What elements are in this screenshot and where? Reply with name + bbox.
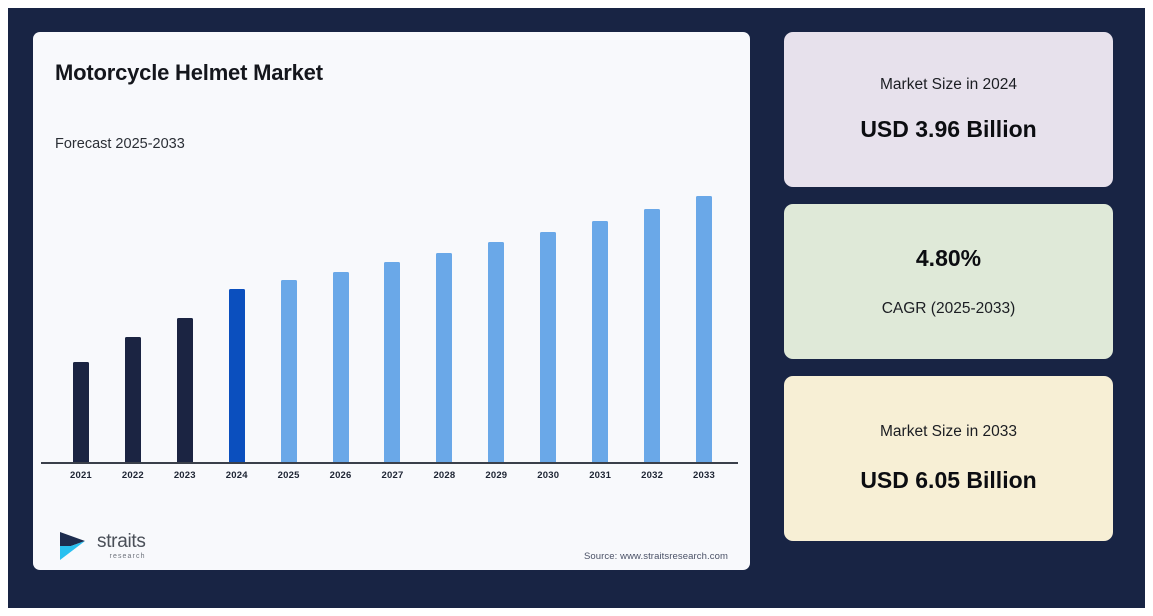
bar-2031 — [592, 221, 608, 464]
logo-tagline: research — [97, 553, 146, 560]
x-tick-2032: 2032 — [626, 470, 678, 481]
stat-card-label: Market Size in 2033 — [880, 423, 1017, 441]
bar-slot — [55, 172, 107, 464]
stat-card-value: USD 6.05 Billion — [860, 467, 1036, 494]
x-tick-2023: 2023 — [159, 470, 211, 481]
straits-research-logo: straits research — [57, 530, 146, 562]
bar-slot — [678, 172, 730, 464]
x-tick-2026: 2026 — [315, 470, 367, 481]
x-tick-2029: 2029 — [470, 470, 522, 481]
bar-2021 — [73, 362, 89, 464]
stat-card-label: CAGR (2025-2033) — [882, 300, 1016, 318]
logo-wordmark: straits research — [97, 532, 146, 560]
chart-panel: Motorcycle Helmet Market Forecast 2025-2… — [33, 32, 750, 570]
bar-2023 — [177, 318, 193, 464]
bar-slot — [315, 172, 367, 464]
x-axis-tick-labels: 2021202220232024202520262027202820292030… — [55, 470, 730, 481]
bar-slot — [211, 172, 263, 464]
x-tick-2021: 2021 — [55, 470, 107, 481]
stat-card-label: Market Size in 2024 — [880, 76, 1017, 94]
bar-2027 — [384, 262, 400, 464]
x-tick-2031: 2031 — [574, 470, 626, 481]
page-title: Motorcycle Helmet Market — [55, 60, 323, 86]
bar-slot — [367, 172, 419, 464]
bar-slot — [159, 172, 211, 464]
logo-name: straits — [97, 532, 146, 551]
bar-2029 — [488, 242, 504, 464]
bar-series — [55, 172, 730, 464]
x-tick-2033: 2033 — [678, 470, 730, 481]
bar-slot — [107, 172, 159, 464]
x-tick-2022: 2022 — [107, 470, 159, 481]
x-axis-line — [41, 462, 738, 464]
bar-slot — [626, 172, 678, 464]
bar-2028 — [436, 253, 452, 464]
bar-chart-plot-area — [55, 172, 730, 464]
x-tick-2024: 2024 — [211, 470, 263, 481]
bar-slot — [418, 172, 470, 464]
bar-2030 — [540, 232, 556, 464]
bar-slot — [522, 172, 574, 464]
bar-slot — [574, 172, 626, 464]
straits-arrow-icon — [57, 530, 91, 562]
bar-slot — [263, 172, 315, 464]
stat-card-market-size-2024: Market Size in 2024 USD 3.96 Billion — [784, 32, 1113, 187]
stat-card-value: 4.80% — [916, 245, 981, 272]
stat-card-value: USD 3.96 Billion — [860, 116, 1036, 143]
stat-card-cagr: 4.80% CAGR (2025-2033) — [784, 204, 1113, 359]
bar-slot — [470, 172, 522, 464]
stat-card-market-size-2033: Market Size in 2033 USD 6.05 Billion — [784, 376, 1113, 541]
x-tick-2030: 2030 — [522, 470, 574, 481]
bar-2026 — [333, 272, 349, 464]
bar-2025 — [281, 280, 297, 464]
bar-2024 — [229, 289, 245, 464]
source-attribution: Source: www.straitsresearch.com — [584, 551, 728, 562]
x-tick-2028: 2028 — [418, 470, 470, 481]
bar-2022 — [125, 337, 141, 464]
x-tick-2025: 2025 — [263, 470, 315, 481]
infographic-canvas: Motorcycle Helmet Market Forecast 2025-2… — [8, 8, 1145, 608]
bar-2033 — [696, 196, 712, 464]
bar-2032 — [644, 209, 660, 464]
x-tick-2027: 2027 — [367, 470, 419, 481]
chart-subtitle: Forecast 2025-2033 — [55, 136, 185, 152]
